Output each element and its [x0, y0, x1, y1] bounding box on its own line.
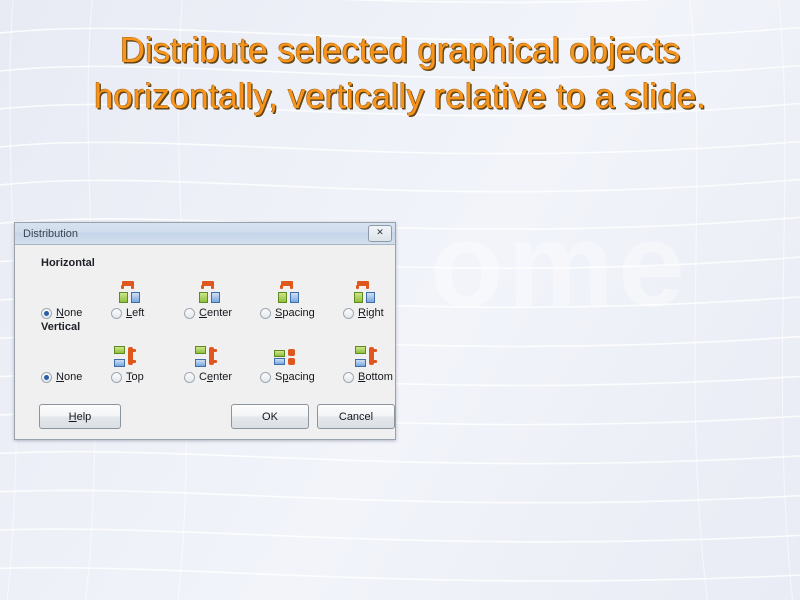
option-vertical-bottom[interactable]: Bottom [343, 345, 393, 383]
option-vertical-center[interactable]: Center [184, 345, 232, 383]
label-vertical-none: None [56, 371, 82, 383]
ok-button[interactable]: OK [231, 404, 309, 429]
option-vertical-spacing[interactable]: Spacing [260, 345, 315, 383]
distribute-horizontal-left-icon [113, 281, 143, 305]
distribute-vertical-bottom-icon [353, 345, 383, 369]
radio-horizontal-right[interactable] [343, 308, 354, 319]
label-horizontal-right: Right [358, 307, 384, 319]
group-label-horizontal: Horizontal [41, 257, 383, 269]
distribute-vertical-spacing-icon [272, 345, 302, 369]
label-vertical-bottom: Bottom [358, 371, 393, 383]
option-horizontal-spacing[interactable]: Spacing [260, 281, 315, 319]
label-horizontal-left: Left [126, 307, 144, 319]
cancel-button[interactable]: Cancel [317, 404, 395, 429]
label-vertical-top: Top [126, 371, 144, 383]
label-horizontal-spacing: Spacing [275, 307, 315, 319]
dialog-titlebar[interactable]: Distribution ✕ [15, 223, 395, 245]
radio-vertical-none[interactable] [41, 372, 52, 383]
radio-vertical-center[interactable] [184, 372, 195, 383]
radio-vertical-bottom[interactable] [343, 372, 354, 383]
radio-horizontal-none[interactable] [41, 308, 52, 319]
distribution-dialog: Distribution ✕ Horizontal None [14, 222, 396, 440]
option-horizontal-right[interactable]: Right [343, 281, 384, 319]
radio-horizontal-spacing[interactable] [260, 308, 271, 319]
label-horizontal-none: None [56, 307, 82, 319]
dialog-body: Horizontal None [15, 245, 395, 439]
option-horizontal-none[interactable]: None [41, 281, 82, 319]
label-vertical-spacing: Spacing [275, 371, 315, 383]
slide-canvas: ome Distribute selected graphical object… [0, 0, 800, 600]
dialog-button-row: Help OK Cancel [27, 404, 383, 429]
label-vertical-center: Center [199, 371, 232, 383]
radio-horizontal-left[interactable] [111, 308, 122, 319]
option-horizontal-center[interactable]: Center [184, 281, 232, 319]
page-title: Distribute selected graphical objects ho… [0, 28, 800, 120]
radio-vertical-top[interactable] [111, 372, 122, 383]
horizontal-options-row: None Left [41, 269, 383, 319]
distribute-horizontal-right-icon [348, 281, 378, 305]
radio-vertical-spacing[interactable] [260, 372, 271, 383]
option-vertical-top[interactable]: Top [111, 345, 144, 383]
option-horizontal-left[interactable]: Left [111, 281, 144, 319]
distribute-horizontal-spacing-icon [272, 281, 302, 305]
group-label-vertical: Vertical [41, 321, 383, 333]
label-horizontal-center: Center [199, 307, 232, 319]
close-icon[interactable]: ✕ [368, 225, 392, 242]
radio-horizontal-center[interactable] [184, 308, 195, 319]
vertical-options-row: None Top [41, 333, 383, 383]
distribute-horizontal-center-icon [193, 281, 223, 305]
help-button[interactable]: Help [39, 404, 121, 429]
background-watermark: ome [430, 205, 689, 325]
distribute-vertical-top-icon [112, 345, 142, 369]
dialog-title: Distribution [23, 228, 368, 240]
option-vertical-none[interactable]: None [41, 345, 82, 383]
distribute-vertical-center-icon [193, 345, 223, 369]
